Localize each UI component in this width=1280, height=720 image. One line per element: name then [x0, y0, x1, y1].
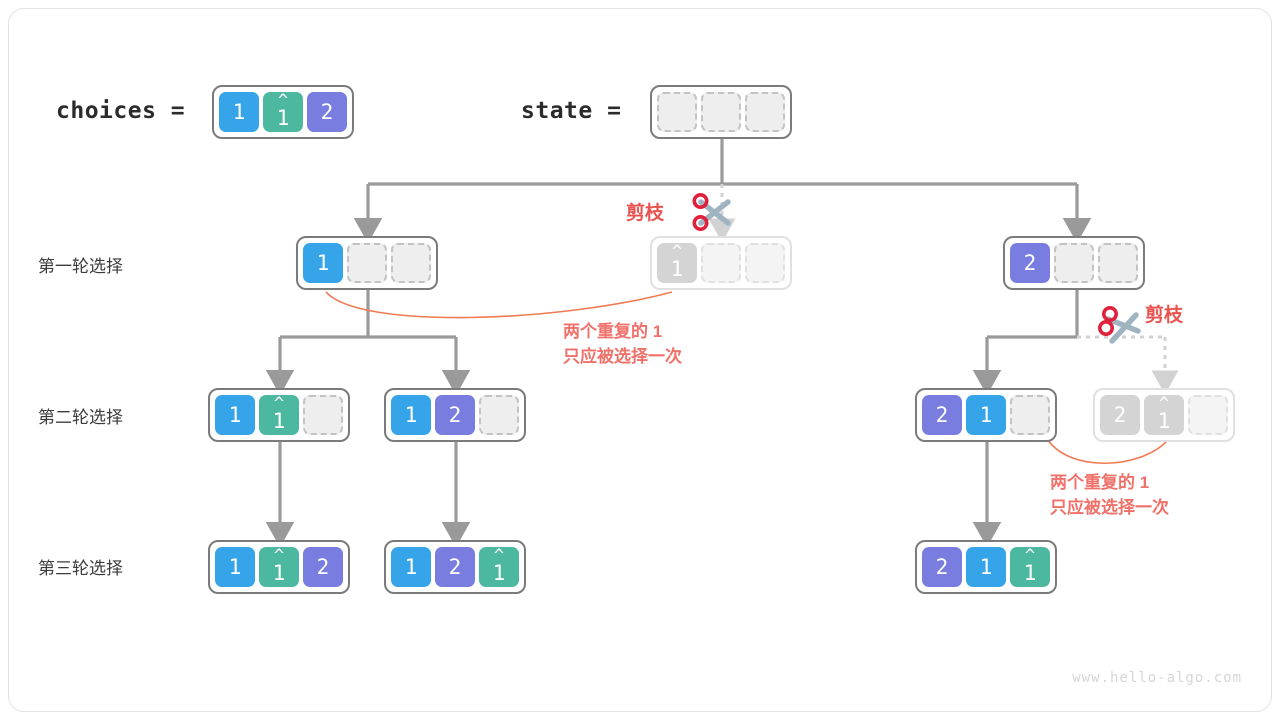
cell: ^ 1 [657, 243, 697, 283]
scissors-icon-right [1098, 305, 1146, 349]
cell: 2 [1100, 395, 1140, 435]
cell-value: 1 [405, 557, 418, 578]
note-line: 两个重复的 1 [1050, 471, 1169, 496]
row-label-1: 第一轮选择 [38, 252, 123, 277]
cell [391, 243, 431, 283]
note-line: 只应被选择一次 [563, 345, 682, 370]
cell [745, 243, 785, 283]
choices-cell-2: 2 [307, 92, 347, 132]
choices-cell-0: 1 [219, 92, 259, 132]
diagram-canvas: choices = state = 1 ^ 1 2 第一轮选择 第二轮选择 第三… [0, 0, 1280, 720]
cell [1054, 243, 1094, 283]
cell-value: 2 [317, 557, 330, 578]
cell-value: 1 [277, 108, 290, 129]
node-r3-b: 1 2 ^ 1 [384, 540, 526, 594]
note-line: 只应被选择一次 [1050, 496, 1169, 521]
cell-value: 2 [936, 557, 949, 578]
cell-value: 1 [1158, 411, 1171, 432]
state-text: state [521, 98, 593, 124]
cell-value: 2 [1024, 253, 1037, 274]
cell-value: 1 [233, 102, 246, 123]
node-r2-c: 2 1 [915, 388, 1057, 442]
state-cell-2 [745, 92, 785, 132]
cell: 2 [435, 395, 475, 435]
cell [479, 395, 519, 435]
node-r2-a: 1 ^ 1 [208, 388, 350, 442]
choices-node: 1 ^ 1 2 [212, 85, 354, 139]
cell-value: 1 [229, 557, 242, 578]
cell: ^ 1 [259, 395, 299, 435]
cell-value: 2 [449, 557, 462, 578]
cell [303, 395, 343, 435]
row-label-2: 第二轮选择 [38, 403, 123, 428]
node-r2-b: 1 2 [384, 388, 526, 442]
choices-text: choices [56, 98, 156, 124]
cell [347, 243, 387, 283]
state-cell-0 [657, 92, 697, 132]
cell [1188, 395, 1228, 435]
node-r1-mid-pruned: ^ 1 [650, 236, 792, 290]
cell-value: 1 [671, 259, 684, 280]
cell-value: 2 [321, 102, 334, 123]
cell-value: 1 [405, 405, 418, 426]
cell: ^ 1 [1010, 547, 1050, 587]
choices-cell-1: ^ 1 [263, 92, 303, 132]
cell: ^ 1 [479, 547, 519, 587]
cell-value: 1 [317, 253, 330, 274]
cell: 1 [966, 395, 1006, 435]
cell: 1 [215, 547, 255, 587]
cell-value: 1 [273, 411, 286, 432]
node-r2-d-pruned: 2 ^ 1 [1093, 388, 1235, 442]
cell-value: 2 [936, 405, 949, 426]
cell: 2 [1010, 243, 1050, 283]
watermark: www.hello-algo.com [1072, 670, 1242, 686]
cell: 2 [303, 547, 343, 587]
cell: 2 [435, 547, 475, 587]
scissors-icon-top [688, 190, 736, 234]
note-top: 两个重复的 1 只应被选择一次 [563, 320, 682, 369]
cell-value: 1 [980, 405, 993, 426]
node-r1-left: 1 [296, 236, 438, 290]
cell: 1 [391, 395, 431, 435]
cell [1098, 243, 1138, 283]
choices-label: choices = [56, 98, 185, 124]
cell: 1 [215, 395, 255, 435]
node-r3-c: 2 1 ^ 1 [915, 540, 1057, 594]
cell: 2 [922, 547, 962, 587]
state-cell-1 [701, 92, 741, 132]
node-r3-a: 1 ^ 1 2 [208, 540, 350, 594]
node-r1-right: 2 [1003, 236, 1145, 290]
cell-value: 2 [449, 405, 462, 426]
cell: 1 [391, 547, 431, 587]
state-equals: = [607, 98, 621, 124]
note-line: 两个重复的 1 [563, 320, 682, 345]
cell: ^ 1 [1144, 395, 1184, 435]
cell-value: 1 [229, 405, 242, 426]
cell: 2 [922, 395, 962, 435]
state-node [650, 85, 792, 139]
cell-value: 1 [273, 563, 286, 584]
note-right: 两个重复的 1 只应被选择一次 [1050, 471, 1169, 520]
cell-value: 2 [1114, 405, 1127, 426]
cell-value: 1 [493, 563, 506, 584]
cell-value: 1 [980, 557, 993, 578]
cell: 1 [966, 547, 1006, 587]
prune-label-right: 剪枝 [1145, 300, 1183, 327]
cell: 1 [303, 243, 343, 283]
row-label-3: 第三轮选择 [38, 554, 123, 579]
cell [701, 243, 741, 283]
choices-equals: = [171, 98, 185, 124]
cell-value: 1 [1024, 563, 1037, 584]
cell [1010, 395, 1050, 435]
cell: ^ 1 [259, 547, 299, 587]
prune-label-top: 剪枝 [626, 198, 664, 225]
state-label: state = [521, 98, 621, 124]
